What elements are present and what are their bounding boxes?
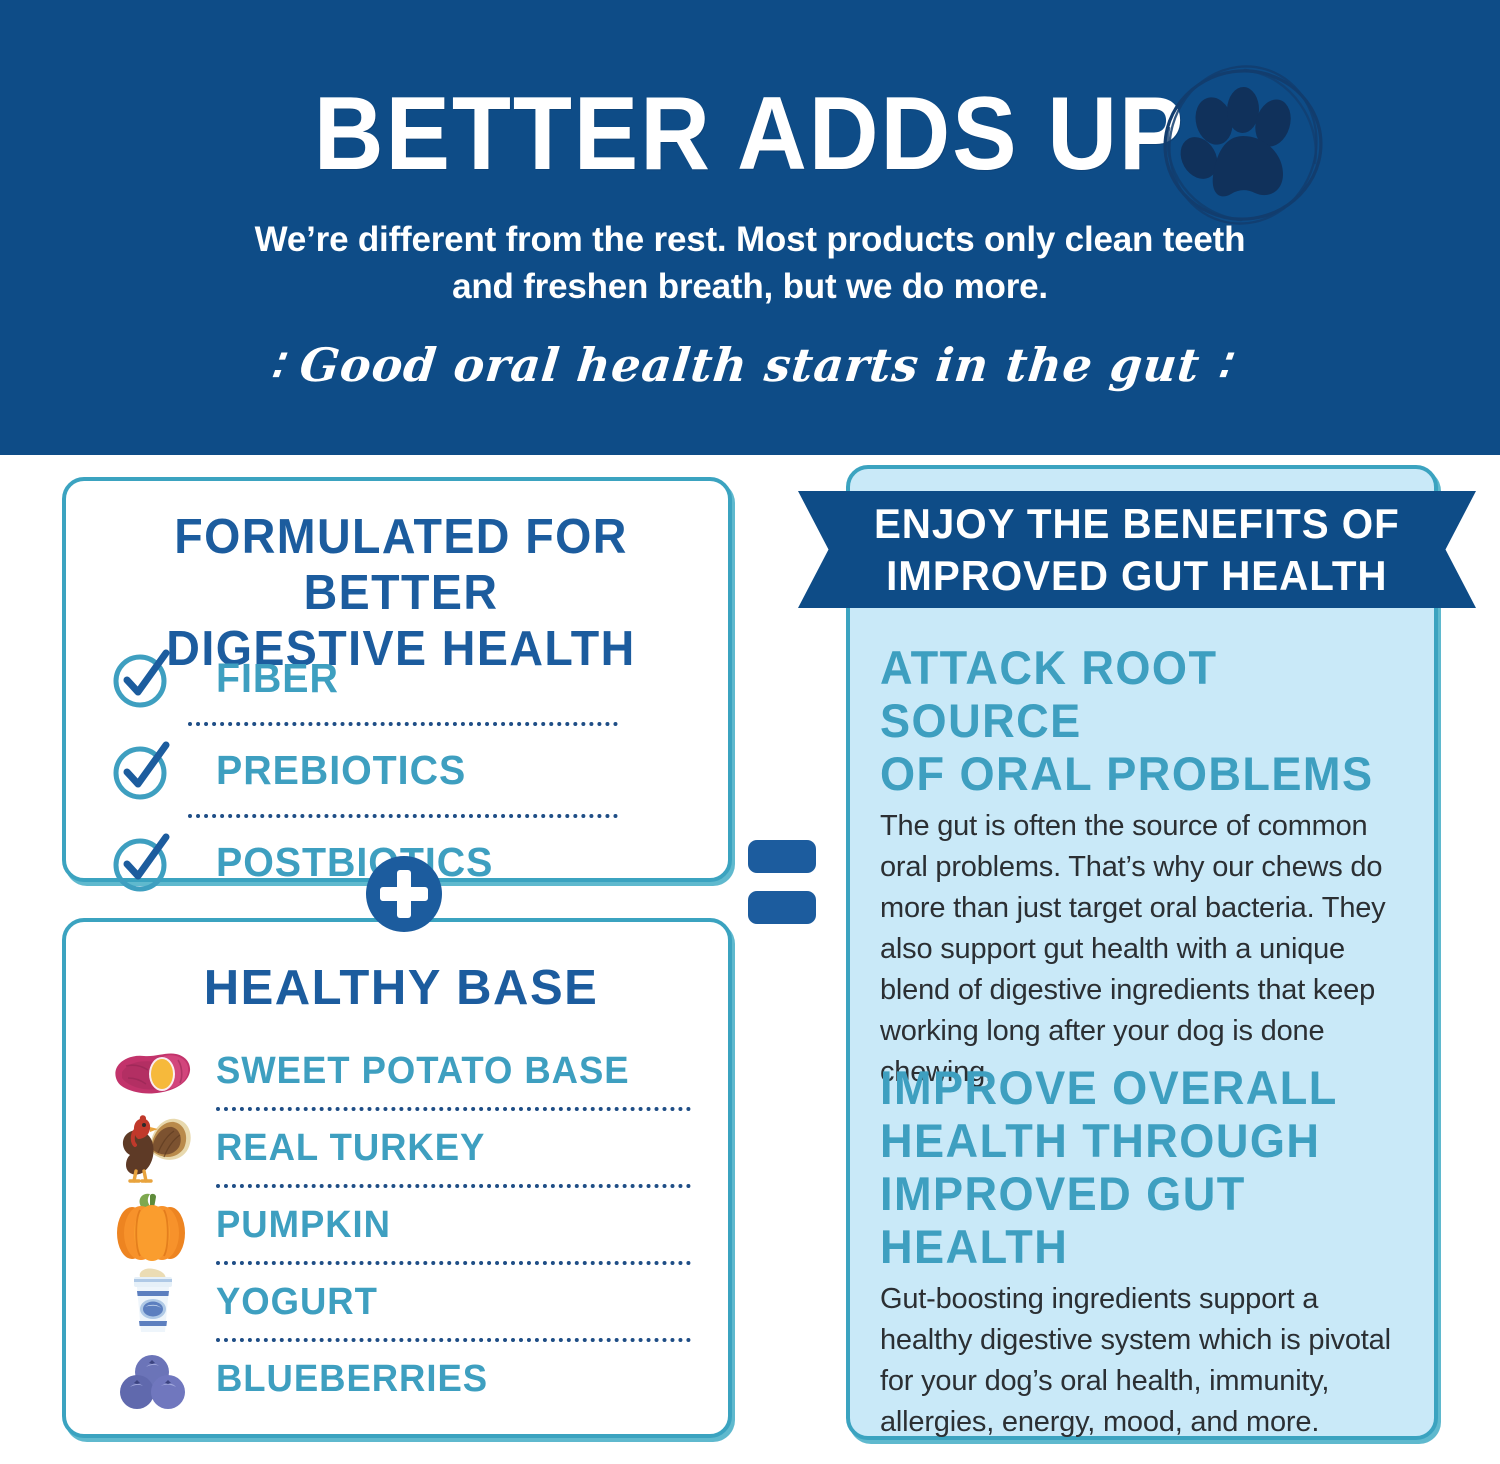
yogurt-cup-icon bbox=[106, 1265, 198, 1338]
benefit-body: Gut-boosting ingredients support a healt… bbox=[880, 1279, 1408, 1443]
pumpkin-icon bbox=[106, 1188, 198, 1261]
sweet-potato-icon bbox=[106, 1034, 198, 1107]
benefits-panel: ATTACK ROOT SOURCE OF ORAL PROBLEMS The … bbox=[846, 465, 1438, 1440]
plus-icon bbox=[366, 856, 442, 932]
divider bbox=[188, 814, 618, 818]
list-item[interactable]: YOGURT bbox=[106, 1265, 706, 1338]
check-circle-icon bbox=[110, 739, 172, 801]
content-area: FORMULATED FOR BETTER DIGESTIVE HEALTH F… bbox=[0, 455, 1500, 1464]
benefit-body: The gut is often the source of common or… bbox=[880, 806, 1408, 1093]
healthy-base-card-title: HEALTHY BASE bbox=[90, 960, 712, 1016]
benefit-block-attack-root-source: ATTACK ROOT SOURCE OF ORAL PROBLEMS The … bbox=[880, 641, 1408, 1093]
check-circle-icon bbox=[110, 831, 172, 893]
header-banner: BETTER ADDS UP We’re different from the … bbox=[0, 0, 1500, 455]
list-item-label: FIBER bbox=[216, 658, 339, 699]
list-item-label: BLUEBERRIES bbox=[216, 1360, 488, 1398]
list-item-label: POSTBIOTICS bbox=[216, 842, 493, 883]
equals-bar-bottom bbox=[748, 891, 816, 924]
divider bbox=[188, 722, 618, 726]
list-item[interactable]: FIBER bbox=[110, 641, 692, 715]
list-item[interactable]: BLUEBERRIES bbox=[106, 1342, 706, 1415]
header-subtitle: We’re different from the rest. Most prod… bbox=[0, 216, 1500, 310]
list-item-label: REAL TURKEY bbox=[216, 1129, 485, 1167]
equals-icon bbox=[748, 840, 816, 932]
list-item[interactable]: PREBIOTICS bbox=[110, 733, 692, 807]
benefits-ribbon: ENJOY THE BENEFITS OF IMPROVED GUT HEALT… bbox=[798, 491, 1476, 608]
list-item[interactable]: SWEET POTATO BASE bbox=[106, 1034, 706, 1107]
formulated-card: FORMULATED FOR BETTER DIGESTIVE HEALTH F… bbox=[62, 477, 732, 882]
ingredient-list: SWEET POTATO BASE bbox=[106, 1034, 706, 1415]
blueberries-icon bbox=[106, 1342, 198, 1415]
benefit-heading: IMPROVE OVERALL HEALTH THROUGH IMPROVED … bbox=[880, 1061, 1387, 1273]
page-title: BETTER ADDS UP bbox=[314, 82, 1185, 186]
turkey-icon bbox=[106, 1111, 198, 1184]
list-item[interactable]: REAL TURKEY bbox=[106, 1111, 706, 1184]
list-item-label: PREBIOTICS bbox=[216, 750, 466, 791]
equals-bar-top bbox=[748, 840, 816, 873]
list-item[interactable]: PUMPKIN bbox=[106, 1188, 706, 1261]
check-circle-icon bbox=[110, 647, 172, 709]
benefit-heading: ATTACK ROOT SOURCE OF ORAL PROBLEMS bbox=[880, 641, 1387, 800]
list-item-label: SWEET POTATO BASE bbox=[216, 1052, 630, 1090]
healthy-base-card: HEALTHY BASE bbox=[62, 918, 732, 1438]
paw-print-icon bbox=[1155, 58, 1330, 233]
list-item-label: YOGURT bbox=[216, 1283, 378, 1321]
benefit-block-improve-overall-health: IMPROVE OVERALL HEALTH THROUGH IMPROVED … bbox=[880, 1061, 1408, 1443]
list-item-label: PUMPKIN bbox=[216, 1206, 391, 1244]
benefits-ribbon-title: ENJOY THE BENEFITS OF IMPROVED GUT HEALT… bbox=[874, 498, 1400, 602]
header-script-line: ∶ Good oral health starts in the gut ∶ bbox=[0, 336, 1500, 394]
